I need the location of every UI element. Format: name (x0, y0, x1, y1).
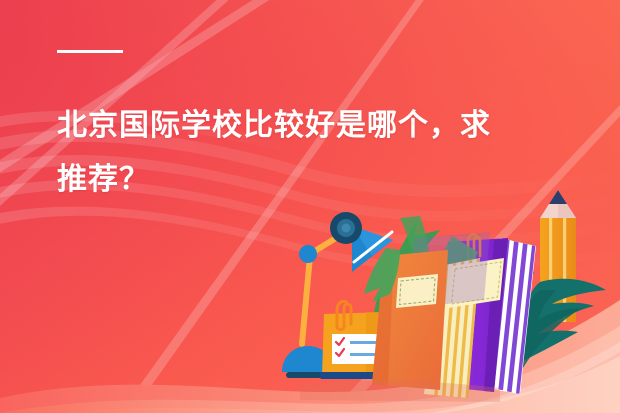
page-title: 北京国际学校比较好是哪个，求 推荐？ (57, 99, 577, 207)
decorative-rule (57, 50, 123, 53)
banner: 北京国际学校比较好是哪个，求 推荐？ (0, 0, 620, 413)
lamp-joint (299, 245, 317, 263)
title-block: 北京国际学校比较好是哪个，求 推荐？ (57, 50, 577, 207)
